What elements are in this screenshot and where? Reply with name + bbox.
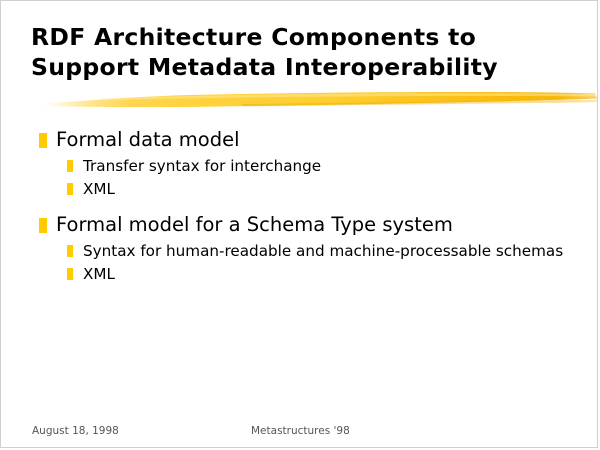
list-item[interactable]: XML <box>1 263 598 285</box>
slide-footer: August 18, 1998 Metastructures '98 <box>1 425 598 441</box>
sub-list-item-label: Syntax for human-readable and machine-pr… <box>83 240 563 262</box>
brush-stroke-divider <box>41 89 597 111</box>
sub-bullet-marker-icon <box>67 183 73 195</box>
sub-list-item-label: XML <box>83 178 115 200</box>
bullet-list: Formal data model Transfer syntax for in… <box>1 127 598 286</box>
sub-bullet-marker-icon <box>67 268 73 280</box>
sub-bullet-marker-icon <box>67 245 73 257</box>
list-item[interactable]: XML <box>1 178 598 200</box>
brush-stroke-icon <box>41 89 597 111</box>
list-item-label: Formal data model <box>56 127 240 153</box>
list-item-label: Formal model for a Schema Type system <box>56 212 453 238</box>
sub-list-item-label: Transfer syntax for interchange <box>83 155 321 177</box>
list-item[interactable]: Transfer syntax for interchange <box>1 155 598 177</box>
sub-bullet-marker-icon <box>67 160 73 172</box>
section-spacer <box>1 201 598 212</box>
bullet-marker-icon <box>39 218 47 233</box>
list-item[interactable]: Syntax for human-readable and machine-pr… <box>1 240 598 262</box>
title-line-2: Support Metadata Interoperability <box>31 52 576 82</box>
sub-list-item-label: XML <box>83 263 115 285</box>
bullet-marker-icon <box>39 133 47 148</box>
footer-date: August 18, 1998 <box>32 425 119 437</box>
list-item[interactable]: Formal data model <box>1 127 598 153</box>
title-line-1: RDF Architecture Components to <box>31 22 576 52</box>
presentation-slide: RDF Architecture Components to Support M… <box>0 0 598 448</box>
page-title: RDF Architecture Components to Support M… <box>31 22 576 82</box>
list-item[interactable]: Formal model for a Schema Type system <box>1 212 598 238</box>
footer-event-name: Metastructures '98 <box>251 425 350 437</box>
